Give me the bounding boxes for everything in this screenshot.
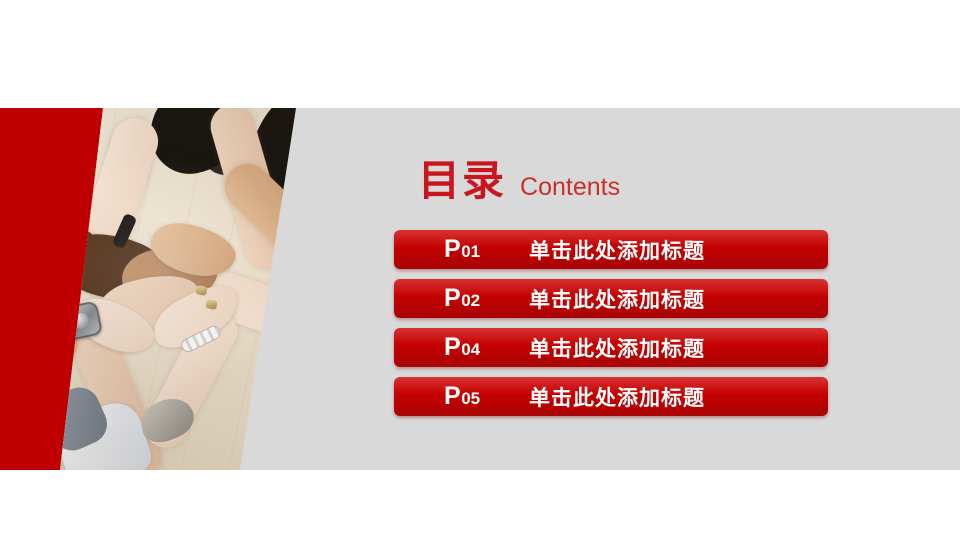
contents-item-3-code-letter: P: [444, 333, 461, 361]
contents-item-2-code: P02: [394, 286, 489, 311]
contents-item-4-title: 单击此处添加标题: [529, 382, 705, 412]
contents-item-1[interactable]: P01 单击此处添加标题: [394, 230, 828, 269]
contents-list: P01 单击此处添加标题 P02 单击此处添加标题 P04 单击此处添加标题 P…: [394, 230, 828, 426]
contents-item-3-title: 单击此处添加标题: [529, 333, 705, 363]
contents-item-2-code-number: 02: [461, 291, 480, 310]
contents-item-2[interactable]: P02 单击此处添加标题: [394, 279, 828, 318]
contents-item-2-title: 单击此处添加标题: [529, 284, 705, 314]
contents-item-1-code-letter: P: [444, 235, 461, 263]
contents-item-4-code: P05: [394, 384, 489, 409]
contents-item-4-code-number: 05: [461, 389, 480, 408]
contents-item-3[interactable]: P04 单击此处添加标题: [394, 328, 828, 367]
contents-item-1-code: P01: [394, 237, 489, 262]
contents-item-2-code-letter: P: [444, 284, 461, 312]
page-title-en: Contents: [520, 175, 620, 200]
contents-item-1-code-number: 01: [461, 242, 480, 261]
contents-item-1-title: 单击此处添加标题: [529, 235, 705, 265]
contents-item-4[interactable]: P05 单击此处添加标题: [394, 377, 828, 416]
page-title-cn: 目录: [418, 160, 506, 202]
contents-item-4-code-letter: P: [444, 382, 461, 410]
contents-item-3-code-number: 04: [461, 340, 480, 359]
contents-item-3-code: P04: [394, 335, 489, 360]
page-title: 目录 Contents: [418, 160, 620, 202]
slide-canvas: 目录 Contents P01 单击此处添加标题 P02 单击此处添加标题 P0…: [0, 0, 960, 540]
